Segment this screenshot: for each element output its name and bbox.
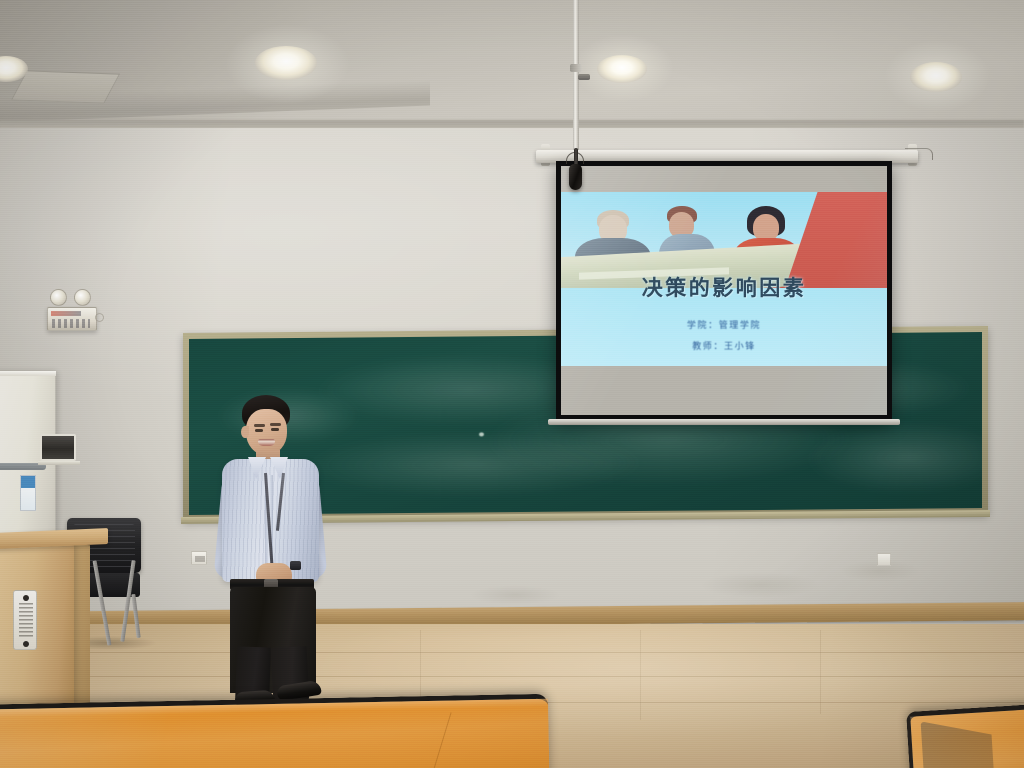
presenter	[208, 395, 338, 710]
ceiling-light-icon	[597, 55, 647, 83]
presenter-face	[246, 409, 287, 455]
classroom-scene: 决策的影响因素 学院：管理学院 教师：王小锋	[0, 0, 1024, 768]
presentation-slide: 决策的影响因素 学院：管理学院 教师：王小锋	[561, 192, 887, 366]
chalk-smudge	[309, 431, 639, 498]
slide-subtitle-teacher: 教师：王小锋	[561, 339, 887, 352]
projection-screen[interactable]: 决策的影响因素 学院：管理学院 教师：王小锋	[556, 161, 892, 420]
slide-title: 决策的影响因素	[561, 272, 887, 302]
pole-bracket-arm	[578, 74, 590, 80]
student-desk-right[interactable]	[906, 700, 1024, 768]
wall-socket[interactable]	[877, 553, 891, 566]
presenter-wristwatch	[290, 561, 301, 570]
screen-power-cable	[905, 148, 933, 160]
ac-top-panel	[0, 371, 56, 376]
ceiling-vent	[11, 70, 120, 103]
wall-scuff	[700, 572, 820, 598]
emergency-light-bracket	[95, 313, 104, 322]
ac-label-header	[21, 476, 35, 488]
emergency-lamp-icon	[50, 289, 67, 306]
desk-sheen	[910, 705, 1024, 768]
ceiling-light-icon	[255, 46, 317, 80]
emergency-light-text-bars	[52, 319, 90, 328]
emergency-light-label	[51, 311, 81, 316]
podium-knob[interactable]	[23, 595, 29, 601]
podium-knob[interactable]	[23, 641, 29, 647]
presenter-mouth	[258, 439, 275, 446]
projection-screen-surface: 决策的影响因素 学院：管理学院 教师：王小锋	[561, 166, 887, 415]
presenter-eyebrow	[254, 424, 265, 427]
ceiling-light-icon	[910, 62, 962, 92]
pole-collar	[570, 64, 582, 72]
presenter-ear	[241, 426, 249, 438]
presenter-eye	[255, 429, 263, 432]
ac-panel-shelf	[38, 461, 80, 465]
emergency-lamp-icon	[74, 289, 91, 306]
desk-sheen	[0, 699, 550, 768]
podium-speaker-grille	[13, 590, 37, 650]
microphone-icon	[569, 164, 582, 190]
wall-scuff	[470, 585, 560, 605]
wall-socket[interactable]	[191, 551, 207, 565]
student-desk-left[interactable]	[0, 694, 550, 768]
emergency-light	[47, 307, 97, 331]
screen-weight-bar	[548, 419, 900, 425]
chalk-mark	[479, 432, 484, 436]
ac-energy-label	[20, 475, 36, 511]
presenter-eyebrow	[270, 423, 281, 426]
ac-wall-control-panel[interactable]	[40, 434, 76, 461]
presenter-eye	[271, 428, 279, 431]
podium-body	[0, 540, 74, 718]
grille-slots	[19, 603, 33, 639]
slide-subtitle-college: 学院：管理学院	[561, 318, 887, 331]
